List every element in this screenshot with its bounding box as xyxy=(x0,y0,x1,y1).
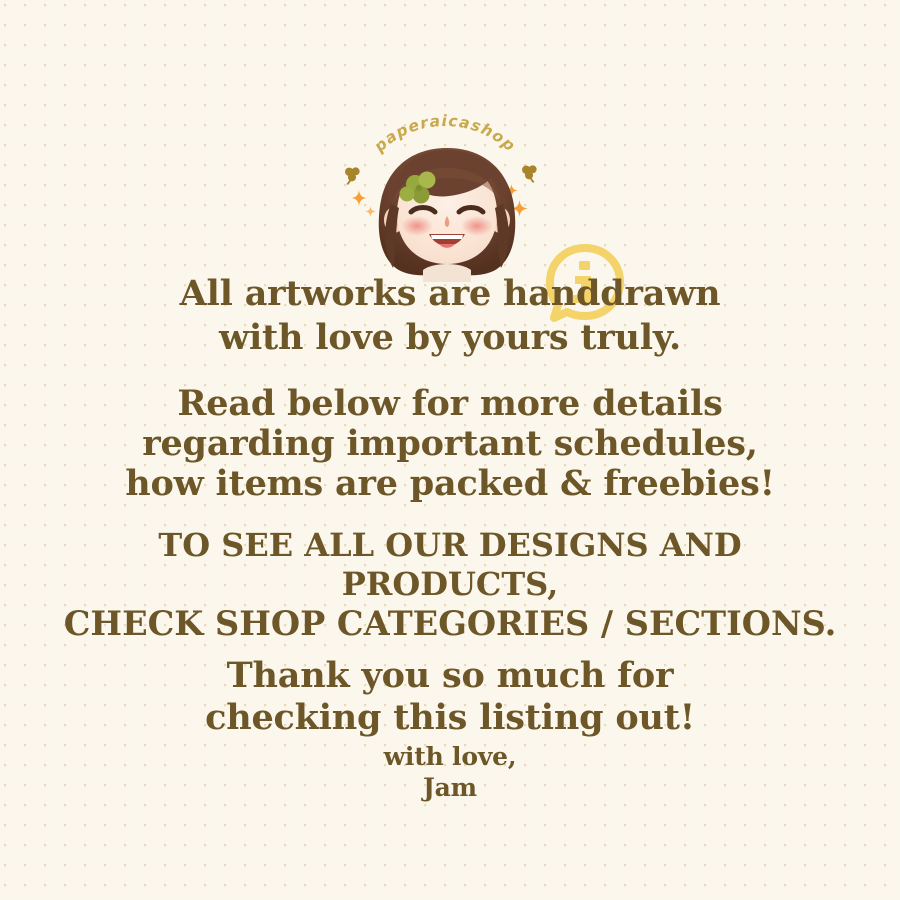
brand-logo: paperaicashop xyxy=(345,112,545,282)
details-block: Read below for more details regarding im… xyxy=(0,384,900,504)
logo-header: paperaicashop xyxy=(0,112,900,282)
signature-line-2: Jam xyxy=(0,772,900,803)
info-icon-dot xyxy=(579,261,590,270)
details-line-3: how items are packed & freebies! xyxy=(0,464,900,504)
thanks-block: Thank you so much for checking this list… xyxy=(0,655,900,739)
avatar-blush-left xyxy=(401,216,433,236)
details-line-1: Read below for more details xyxy=(0,384,900,424)
clover-icon-left xyxy=(341,164,363,186)
browse-line-2: PRODUCTS, xyxy=(0,565,900,604)
thanks-line-1: Thank you so much for xyxy=(0,655,900,697)
announcement-copy: All artworks are handdrawn with love by … xyxy=(0,272,900,803)
intro-line-2: with love by yours truly. xyxy=(0,316,900,360)
avatar xyxy=(363,142,531,282)
thanks-line-2: checking this listing out! xyxy=(0,697,900,739)
browse-line-1: TO SEE ALL OUR DESIGNS AND xyxy=(0,526,900,565)
intro-line-1: All artworks are handdrawn xyxy=(0,272,900,316)
avatar-blush-right xyxy=(461,216,493,236)
browse-line-3: CHECK SHOP CATEGORIES / SECTIONS. xyxy=(0,604,900,643)
signature-line-1: with love, xyxy=(0,741,900,772)
signature-block: with love, Jam xyxy=(0,741,900,803)
browse-block: TO SEE ALL OUR DESIGNS AND PRODUCTS, CHE… xyxy=(0,526,900,643)
details-line-2: regarding important schedules, xyxy=(0,424,900,464)
intro-block: All artworks are handdrawn with love by … xyxy=(0,272,900,360)
avatar-teeth xyxy=(431,235,463,239)
shop-info-card: paperaicashop xyxy=(0,0,900,900)
